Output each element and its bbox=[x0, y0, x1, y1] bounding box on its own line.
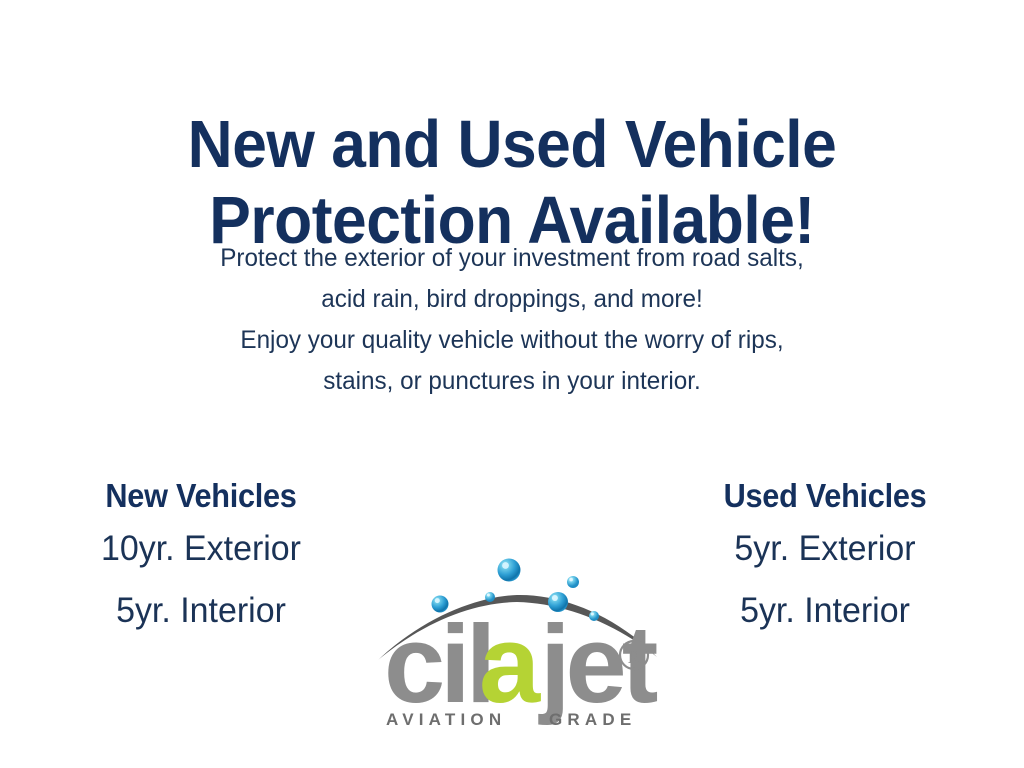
logo-wordmark: cil a jet bbox=[384, 603, 658, 726]
new-vehicles-column: New Vehicles 10yr. Exterior 5yr. Interio… bbox=[36, 474, 366, 642]
used-vehicles-interior-term: 5yr. Interior bbox=[665, 580, 985, 642]
svg-text:R: R bbox=[628, 647, 641, 668]
logo-tagline-aviation: AVIATION bbox=[386, 710, 506, 729]
logo-tagline-grade: GRADE bbox=[549, 710, 636, 729]
subcopy-line-4: stains, or punctures in your interior. bbox=[15, 361, 1008, 402]
new-vehicles-interior-term: 5yr. Interior bbox=[41, 580, 361, 642]
logo-wordmark-a: a bbox=[479, 603, 541, 726]
new-vehicles-exterior-term: 10yr. Exterior bbox=[41, 518, 361, 580]
logo-wordmark-cil: cil bbox=[384, 603, 491, 726]
subtitle-paragraph: Protect the exterior of your investment … bbox=[15, 238, 1008, 402]
subcopy-line-2: acid rain, bird droppings, and more! bbox=[15, 279, 1008, 320]
headline-line-1: New and Used Vehicle bbox=[36, 107, 988, 183]
new-vehicles-heading: New Vehicles bbox=[48, 474, 355, 518]
used-vehicles-heading: Used Vehicles bbox=[672, 474, 979, 518]
subcopy-line-1: Protect the exterior of your investment … bbox=[15, 238, 1008, 279]
cilajet-logo: cil a jet R AVIATION GRADE bbox=[372, 552, 662, 732]
subcopy-line-3: Enjoy your quality vehicle without the w… bbox=[15, 320, 1008, 361]
page-title: New and Used Vehicle Protection Availabl… bbox=[36, 107, 988, 259]
slide-canvas: New and Used Vehicle Protection Availabl… bbox=[0, 0, 1024, 768]
used-vehicles-column: Used Vehicles 5yr. Exterior 5yr. Interio… bbox=[660, 474, 990, 642]
used-vehicles-exterior-term: 5yr. Exterior bbox=[665, 518, 985, 580]
